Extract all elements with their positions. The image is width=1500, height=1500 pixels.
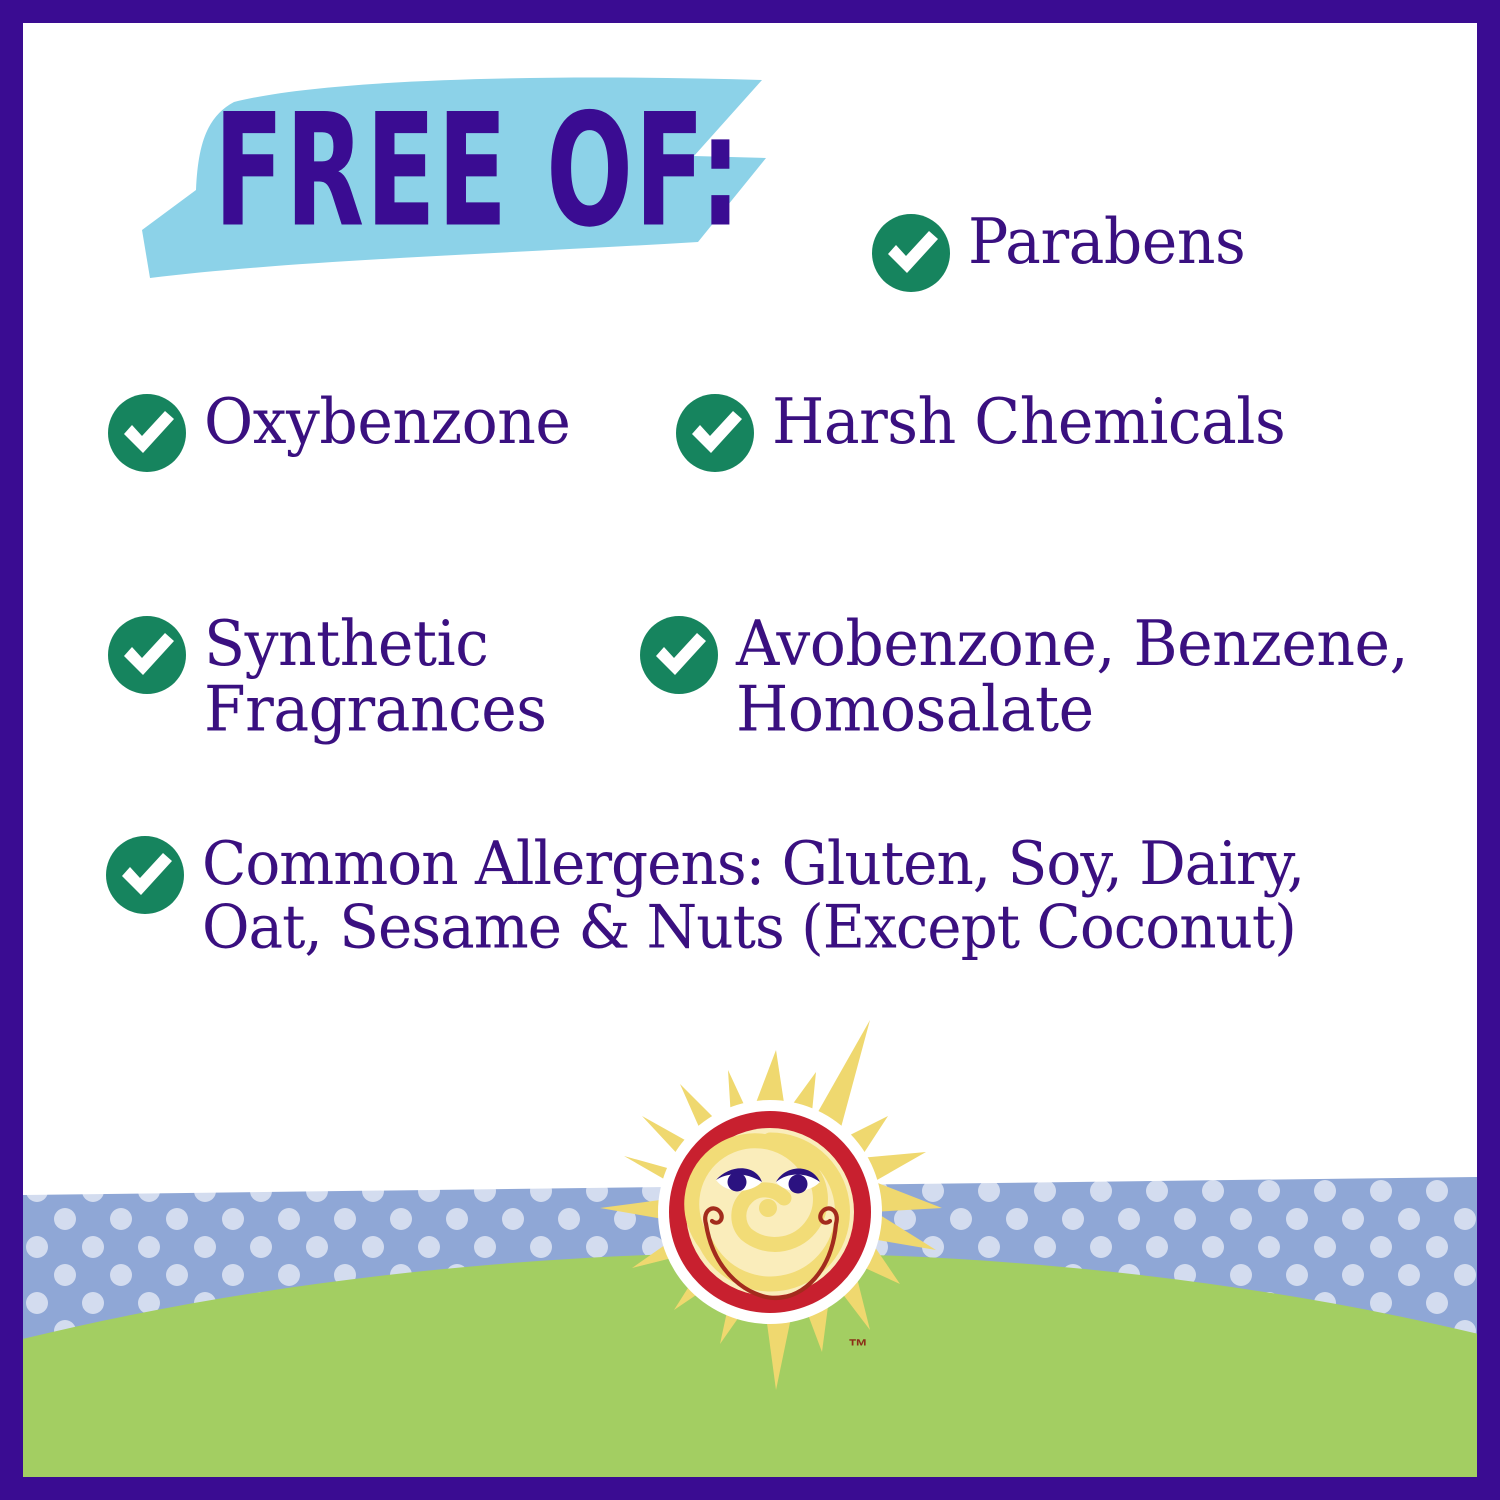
check-circle-icon [872, 214, 950, 292]
sun-smiley-logo: ™ [570, 1012, 970, 1442]
list-item: Oxybenzone [108, 390, 570, 472]
list-item-label: Harsh Chemicals [772, 390, 1285, 456]
list-item-label: Parabens [968, 210, 1245, 276]
check-circle-icon [640, 616, 718, 694]
list-item: Common Allergens: Gluten, Soy, Dairy, Oa… [106, 832, 1304, 954]
list-item-label: Common Allergens: Gluten, Soy, Dairy, Oa… [202, 832, 1304, 959]
list-item-label: Synthetic Fragrances [204, 612, 547, 743]
check-circle-icon [106, 836, 184, 914]
list-item: Synthetic Fragrances [108, 612, 547, 738]
list-item-label: Oxybenzone [204, 390, 570, 456]
check-circle-icon [108, 394, 186, 472]
check-circle-icon [108, 616, 186, 694]
list-item: Avobenzone, Benzene, Homosalate [640, 612, 1408, 738]
check-circle-icon [676, 394, 754, 472]
trademark-symbol: ™ [848, 1336, 869, 1359]
list-item: Harsh Chemicals [676, 390, 1285, 472]
list-item-label: Avobenzone, Benzene, Homosalate [736, 612, 1408, 743]
list-item: Parabens [872, 210, 1245, 292]
infographic-canvas: FREE OF: Parabens Oxybenzone [0, 0, 1500, 1500]
